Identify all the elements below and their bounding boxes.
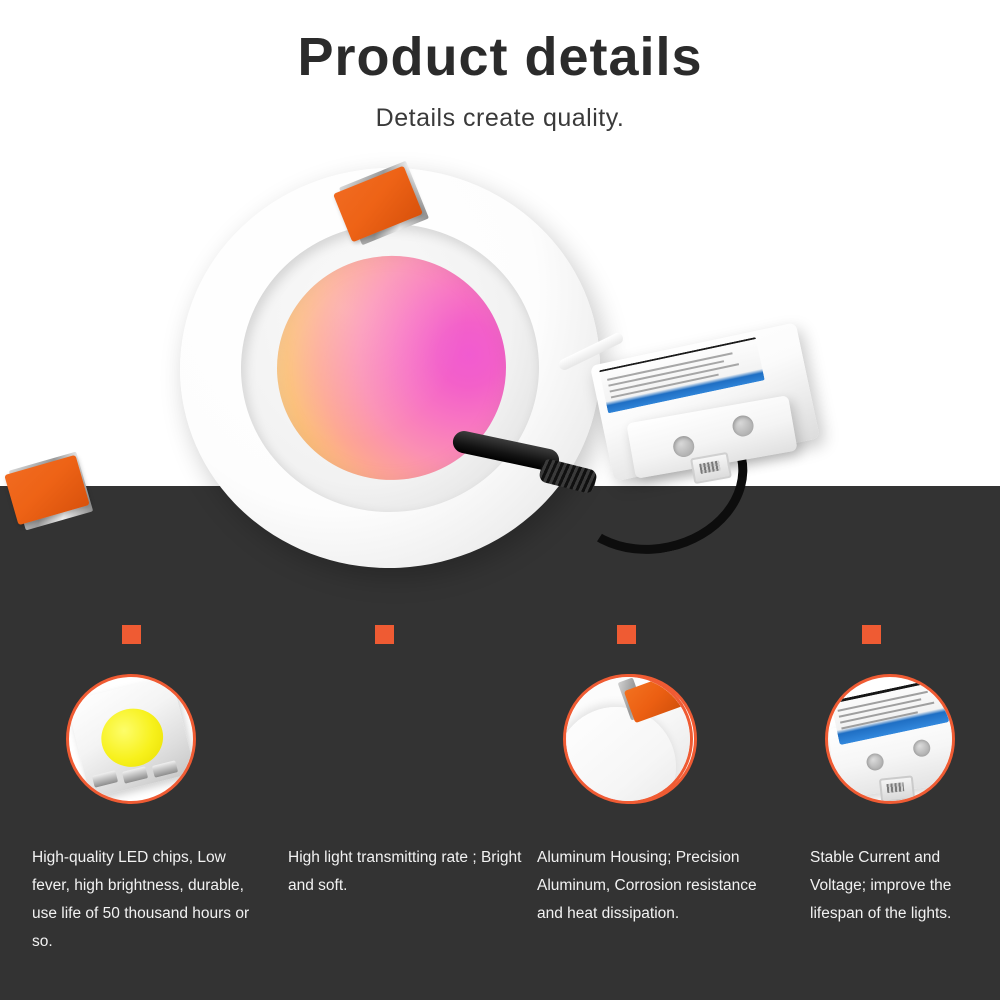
- driver-label: [599, 337, 765, 413]
- feature-thumbnail-housing[interactable]: [563, 674, 693, 804]
- orange-square-marker-icon: [375, 625, 394, 644]
- page-title: Product details: [0, 0, 1000, 88]
- feature-caption: High-quality LED chips, Low fever, high …: [32, 844, 258, 956]
- feature-thumbnail-driver[interactable]: [825, 674, 955, 804]
- thumbnail-image: [566, 677, 690, 801]
- mounting-hole: [866, 752, 885, 771]
- driver-output-socket-closeup: [879, 775, 915, 801]
- feature-caption: Aluminum Housing; Precision Aluminum, Co…: [537, 844, 769, 928]
- led-driver-box: [600, 343, 810, 488]
- page-subtitle: Details create quality.: [0, 88, 1000, 133]
- driver-output-socket: [690, 452, 732, 484]
- mounting-hole: [731, 414, 755, 438]
- led-phosphor-dome: [95, 702, 169, 773]
- orange-square-marker-icon: [617, 625, 636, 644]
- orange-square-marker-icon: [862, 625, 881, 644]
- product-details-page: Product details Details create quality.: [0, 0, 1000, 1000]
- page-header: Product details Details create quality.: [0, 0, 1000, 133]
- feature-caption: Stable Current and Voltage; improve the …: [810, 844, 988, 928]
- mounting-hole: [672, 434, 696, 458]
- feature-thumbnail-led-chip[interactable]: [66, 674, 196, 804]
- thumbnail-image: [828, 677, 952, 801]
- mounting-hole: [912, 739, 931, 758]
- hero-product-image: [0, 150, 1000, 590]
- thumbnail-image: [69, 677, 193, 801]
- feature-caption: High light transmitting rate ; Bright an…: [288, 844, 524, 900]
- label-text-line: [610, 363, 740, 392]
- downlight-inner-step: [234, 216, 547, 519]
- orange-square-marker-icon: [122, 625, 141, 644]
- label-text-line: [608, 360, 724, 386]
